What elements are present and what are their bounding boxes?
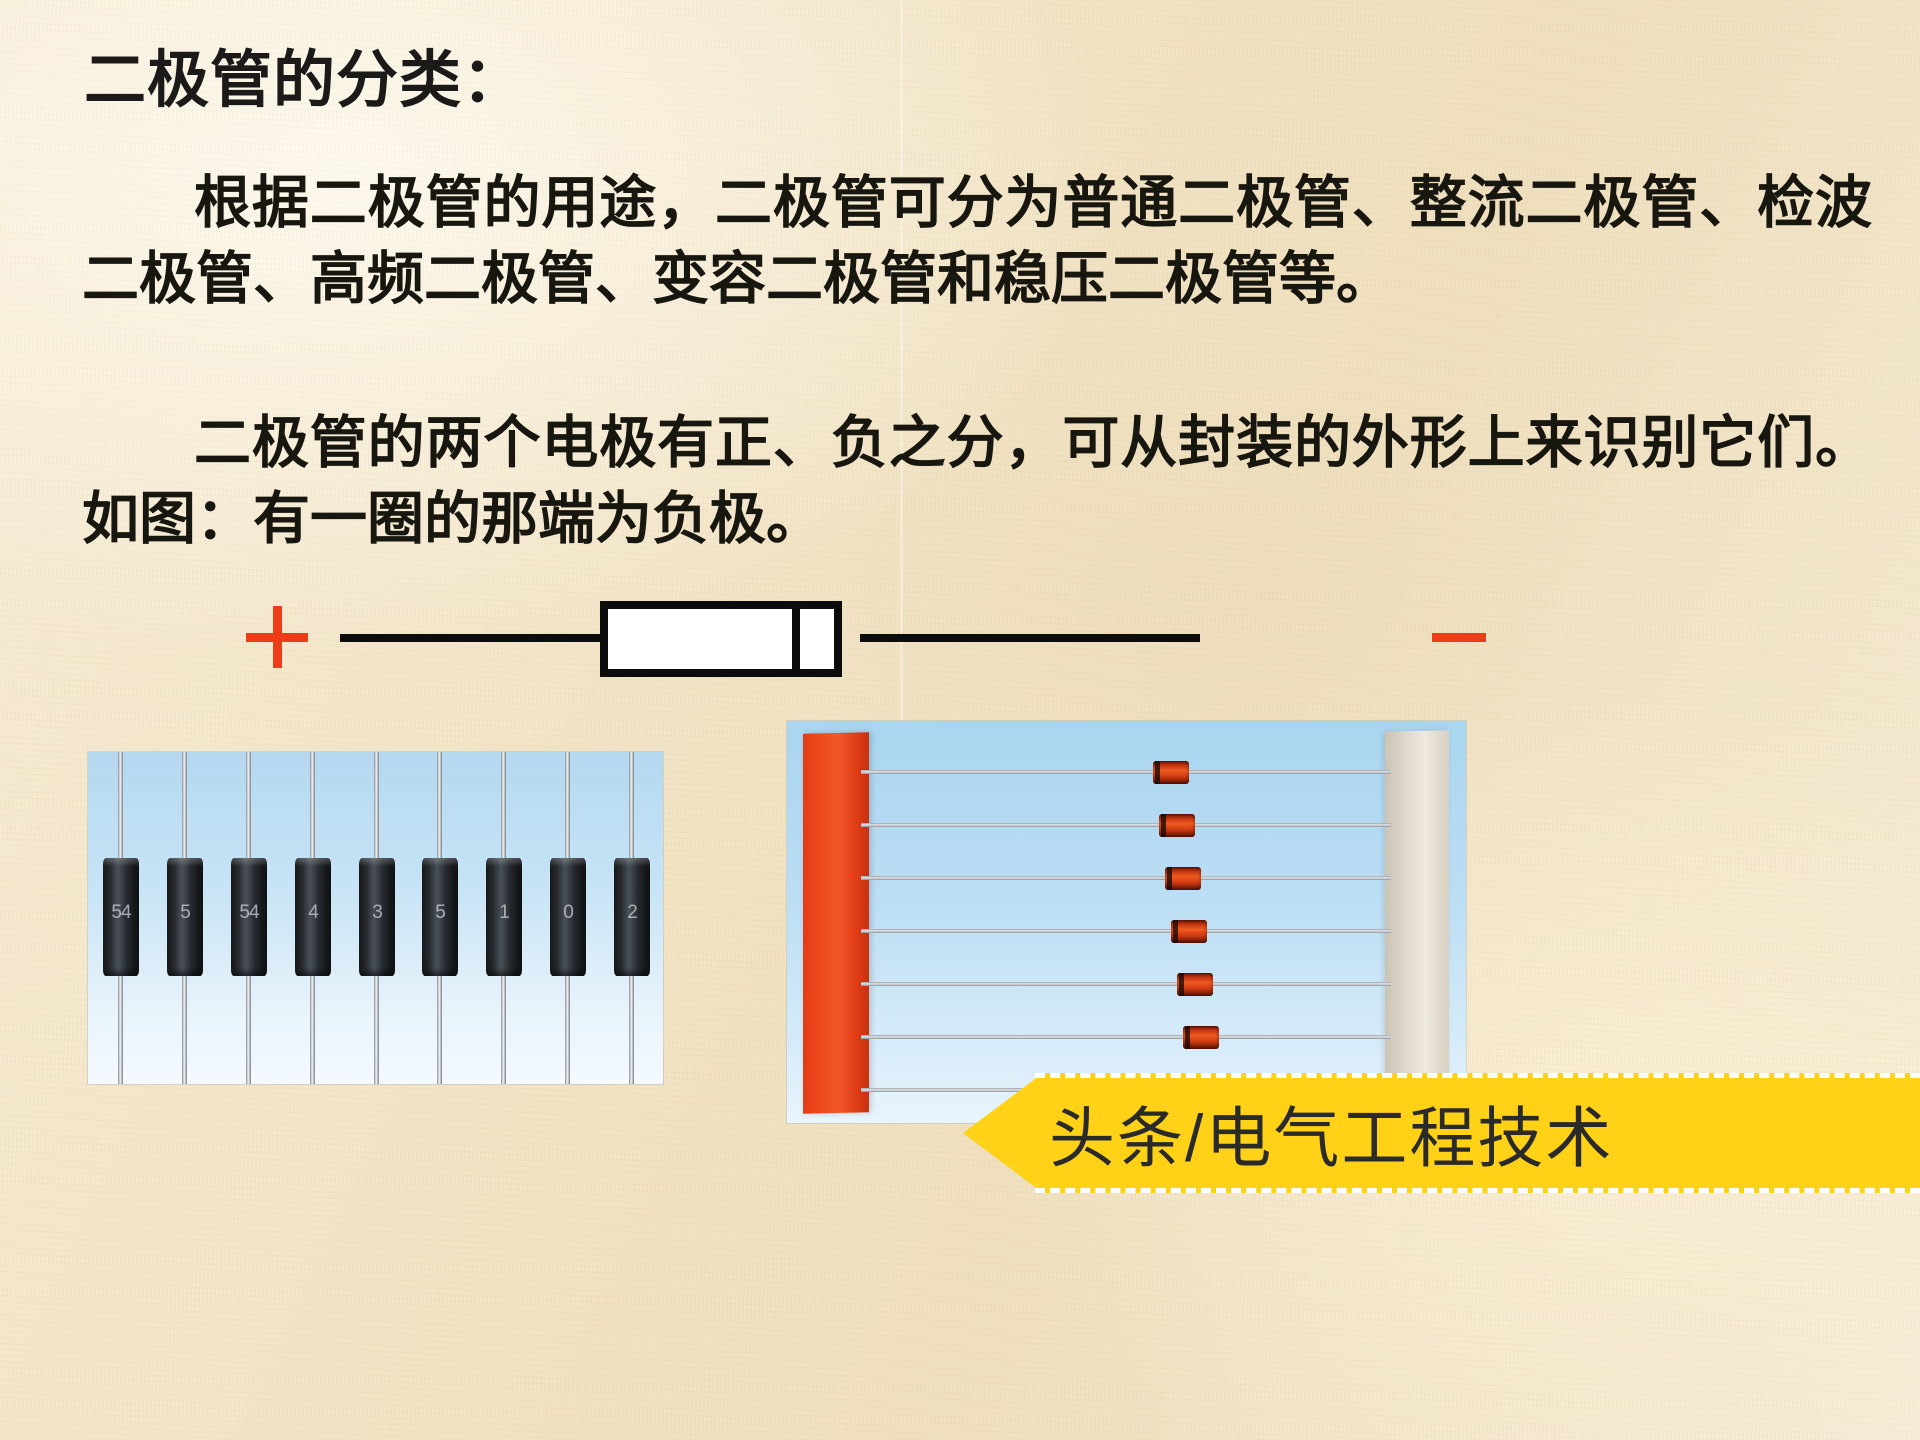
diode-package: 54 [231,858,267,976]
diode-lead [861,982,1391,986]
black-diode-7: 1 [473,752,535,1084]
red-diode-2 [861,812,1391,838]
diode-marking: 54 [103,902,139,924]
anode-plus-icon [246,606,308,668]
diode-package [1153,761,1189,784]
diode-schematic-diagram [240,596,1500,716]
diode-lead [861,770,1391,774]
red-diode-1 [861,759,1391,785]
diode-package [1183,1026,1219,1049]
diode-package [1165,867,1201,890]
cathode-lead-line [860,634,1200,642]
black-diode-1: 54 [90,752,152,1084]
diode-package: 1 [486,858,522,976]
cathode-band-stripe [792,609,800,669]
diode-package: 5 [422,858,458,976]
diode-marking: 5 [167,902,203,924]
red-diode-5 [861,971,1391,997]
diode-marking: 54 [231,902,267,924]
diode-marking: 4 [295,902,331,924]
diode-package: 5 [167,858,203,976]
black-diode-8: 0 [537,752,599,1084]
diode-lead [861,876,1391,880]
body-paragraph-1: 根据二极管的用途，二极管可分为普通二极管、整流二极管、检波二极管、高频二极管、变… [82,166,1872,319]
diode-lead [861,929,1391,933]
diode-package: 0 [550,858,586,976]
diode-package: 3 [359,858,395,976]
diode-marking: 1 [486,902,522,924]
diode-package: 4 [295,858,331,976]
tape-strip-red [803,732,869,1113]
diode-lead [861,1035,1391,1039]
photo-black-diodes: 54554435102 [88,752,663,1084]
page-title: 二极管的分类： [84,48,525,115]
black-diode-5: 3 [346,752,408,1084]
diode-lead [861,823,1391,827]
watermark-banner: 头条/电气工程技术 [963,1073,1920,1193]
anode-lead-line [340,634,602,642]
red-diode-6 [861,1024,1391,1050]
diode-package [1171,920,1207,943]
diode-package: 54 [103,858,139,976]
black-diode-4: 4 [282,752,344,1084]
diode-marking: 3 [359,902,395,924]
diode-marking: 0 [550,902,586,924]
diode-package: 2 [614,858,650,976]
diode-body-outline [600,601,842,677]
tape-strip-paper [1385,730,1449,1109]
black-diode-3: 54 [218,752,280,1084]
diode-package [1159,814,1195,837]
photo-red-diodes-on-tape [787,721,1466,1123]
black-diode-6: 5 [409,752,471,1084]
diode-marking: 2 [614,902,650,924]
watermark-text: 头条/电气工程技术 [1049,1085,1613,1181]
red-diode-4 [861,918,1391,944]
banner-arrow-icon [963,1073,1043,1193]
diode-package [1177,973,1213,996]
black-diode-9: 2 [601,752,663,1084]
banner-bar: 头条/电气工程技术 [1035,1073,1920,1193]
black-diode-2: 5 [154,752,216,1084]
slide-canvas: 二极管的分类： 根据二极管的用途，二极管可分为普通二极管、整流二极管、检波二极管… [0,0,1920,1440]
diode-marking: 5 [422,902,458,924]
cathode-minus-icon [1432,633,1486,642]
red-diode-3 [861,865,1391,891]
body-paragraph-2: 二极管的两个电极有正、负之分，可从封装的外形上来识别它们。如图：有一圈的那端为负… [82,406,1872,559]
